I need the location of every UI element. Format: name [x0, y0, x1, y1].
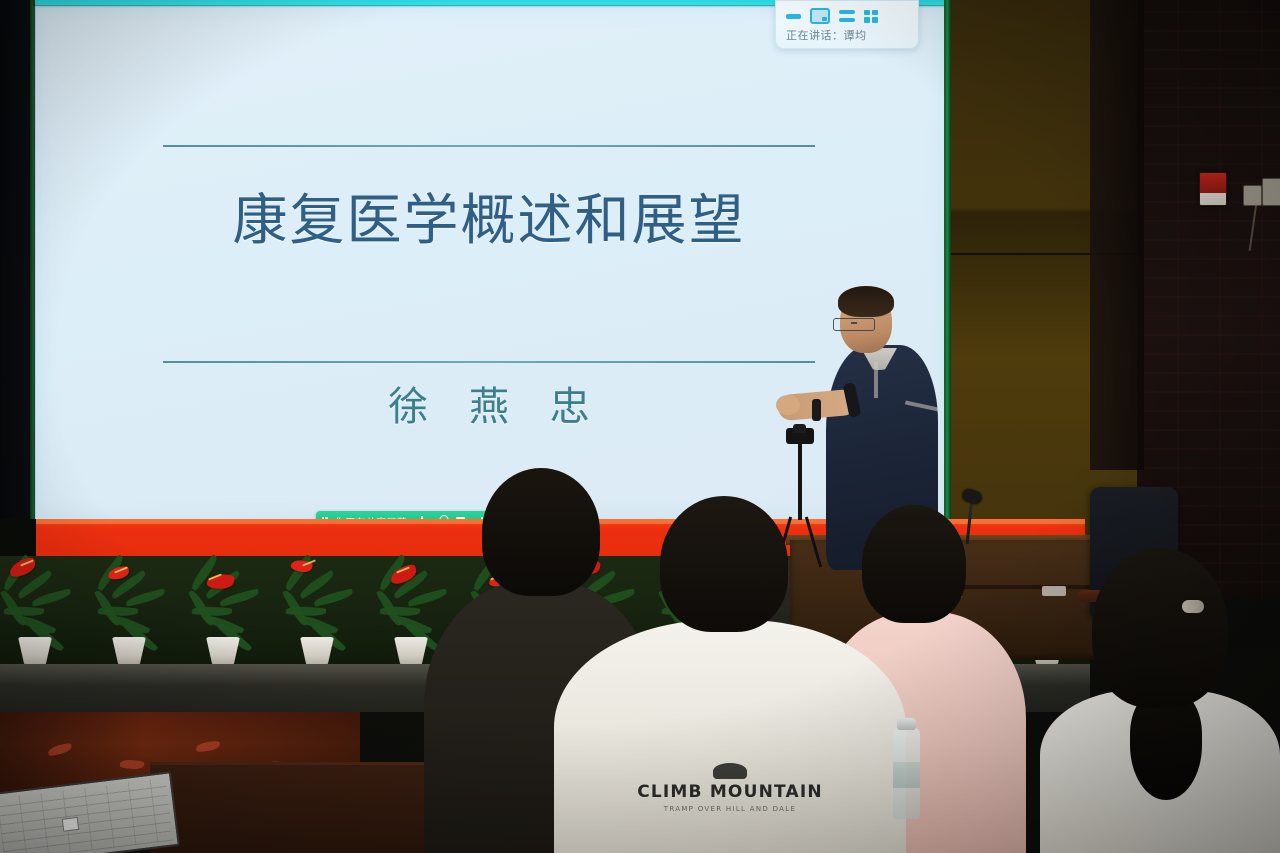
camera-lens-icon [793, 424, 806, 433]
lecture-hall-photo: 康复医学概述和展望 徐 燕 忠 正在讲话：谭均 你正在共享屏幕 27:1 [0, 0, 1280, 853]
slide-author: 徐 燕 忠 [163, 374, 815, 432]
stacked-view-icon[interactable] [839, 10, 855, 22]
wall-outlet-icon [1262, 178, 1280, 206]
thumbnail-view-icon[interactable] [810, 8, 830, 24]
wall-outlet-icon [1243, 185, 1262, 206]
slide-title: 康复医学概述和展望 [163, 188, 815, 253]
screen-right-trim [944, 0, 951, 560]
audience-member-body [554, 620, 906, 853]
dark-column [1090, 0, 1144, 470]
wristwatch-icon [812, 399, 821, 421]
presenter-placket [874, 362, 878, 398]
mountain-logo-icon [713, 763, 747, 779]
glasses-icon [833, 318, 875, 331]
audience-member-head [482, 468, 600, 596]
shirt-brand-text: CLIMB MOUNTAIN [554, 782, 906, 802]
bottle-label [893, 762, 920, 788]
audience-member-head [1092, 548, 1228, 708]
slide-divider-bottom [163, 361, 815, 363]
bottle-cap [897, 718, 916, 730]
audience-member-head [862, 505, 966, 623]
presenter-hand [776, 395, 800, 415]
current-speaker-label: 正在讲话：谭均 [786, 27, 867, 43]
tripod-pole [798, 444, 802, 520]
spreadsheet-grid [0, 778, 173, 853]
meeting-view-panel[interactable]: 正在讲话：谭均 [775, 0, 919, 49]
shirt-tagline-text: TRAMP OVER HILL AND DALE [554, 805, 906, 813]
hair-clip-icon [1182, 600, 1204, 613]
speaker-view-icon[interactable] [786, 14, 801, 19]
audience-member-head [660, 496, 788, 632]
left-wall [0, 0, 34, 560]
slide-divider-top [163, 145, 815, 147]
screen-left-trim [30, 0, 35, 560]
presenter-hair [838, 286, 894, 317]
shirt-graphic: CLIMB MOUNTAIN TRAMP OVER HILL AND DALE [554, 763, 906, 813]
podium-clip-icon [1042, 586, 1066, 596]
gallery-view-icon[interactable] [864, 10, 878, 23]
wall-sign-icon [1199, 172, 1227, 206]
view-mode-icons [786, 8, 878, 24]
spreadsheet-cell [62, 817, 79, 832]
